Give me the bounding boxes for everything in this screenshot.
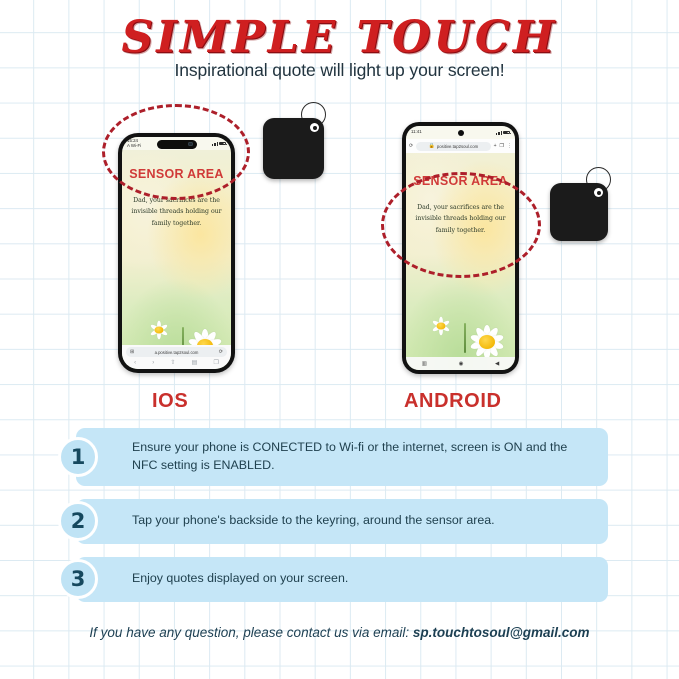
screen-content-ios: SENSOR AREA Dad, your sacrifices are the… xyxy=(122,167,231,229)
step-number-1: 1 xyxy=(58,437,98,477)
phone-mockup-ios: 15:24 A Wi-Fi SENSOR AREA Dad, your sacr… xyxy=(118,133,235,373)
daisy-photo-ios xyxy=(122,275,231,353)
browser-bar-android: ⟳ 🔒 positive.tap2soul.com + ❐ ⋮ xyxy=(406,139,515,153)
footer-text: If you have any question, please contact… xyxy=(89,625,412,640)
reload-icon[interactable]: ⟳ xyxy=(409,144,413,149)
step-text-1: Ensure your phone is CONECTED to Wi-fi o… xyxy=(132,439,592,475)
phone-screen-android: 11:41 ⟳ 🔒 positive.tap2soul.com + ❐ ⋮ SE… xyxy=(406,126,515,370)
tag-body xyxy=(550,183,608,241)
status-time-android: 11:41 xyxy=(411,130,422,135)
back-icon[interactable]: ‹ xyxy=(134,360,136,366)
tag-body xyxy=(263,118,324,179)
step-number-3: 3 xyxy=(58,559,98,599)
share-icon[interactable]: ⇧ xyxy=(170,359,175,366)
step-item-1: 1 Ensure your phone is CONECTED to Wi-fi… xyxy=(76,428,608,486)
signal-icon xyxy=(212,142,217,146)
nfc-keyring-tag-ios xyxy=(263,118,324,179)
menu-icon[interactable]: ⋮ xyxy=(507,144,512,149)
os-label-android: ANDROID xyxy=(404,390,502,413)
step-text-3: Enjoy quotes displayed on your screen. xyxy=(132,570,348,588)
tabs-icon[interactable]: ❐ xyxy=(500,144,504,149)
nfc-keyring-tag-android xyxy=(550,183,608,241)
battery-icon xyxy=(219,142,226,146)
page-title: SIMPLE TOUCH xyxy=(0,12,679,63)
step-number-2: 2 xyxy=(58,501,98,541)
os-label-ios: IOS xyxy=(152,390,188,413)
navigation-bar-android: ▥ ◉ ◀ xyxy=(406,357,515,370)
sensor-area-label-ios: SENSOR AREA xyxy=(122,167,231,181)
footer-contact: If you have any question, please contact… xyxy=(0,625,679,640)
status-bar-right-android xyxy=(496,131,510,135)
status-bar-right-ios xyxy=(212,142,226,146)
tag-hole-icon xyxy=(594,188,603,197)
poster-page: SIMPLE TOUCH Inspirational quote will li… xyxy=(0,0,679,679)
dynamic-island-ios xyxy=(157,140,197,149)
footer-email[interactable]: sp.touchtosoul@gmail.com xyxy=(413,625,590,640)
step-item-3: 3 Enjoy quotes displayed on your screen. xyxy=(76,557,608,602)
signal-icon xyxy=(496,131,501,135)
url-bar-android[interactable]: 🔒 positive.tap2soul.com xyxy=(416,142,490,151)
reload-icon[interactable]: ⟳ xyxy=(219,350,223,355)
browser-bar-ios: ⊞ a.positive.tap2soul.com ⟳ ‹ › ⇧ ▤ ❐ xyxy=(122,345,231,369)
browser-toolbar-ios: ‹ › ⇧ ▤ ❐ xyxy=(126,357,227,368)
page-subtitle: Inspirational quote will light up your s… xyxy=(0,60,679,81)
daisy-photo-android xyxy=(406,269,515,357)
status-bar-left-ios: 15:24 A Wi-Fi xyxy=(127,139,141,148)
phone-screen-ios: 15:24 A Wi-Fi SENSOR AREA Dad, your sacr… xyxy=(122,137,231,369)
url-text-ios: a.positive.tap2soul.com xyxy=(155,350,199,355)
new-tab-icon[interactable]: + xyxy=(494,144,497,149)
front-camera-icon xyxy=(458,130,464,136)
sensor-area-label-android: SENSOR AREA xyxy=(406,174,515,188)
status-carrier-ios: A Wi-Fi xyxy=(127,144,141,149)
home-icon[interactable]: ◉ xyxy=(459,361,464,367)
screen-content-android: SENSOR AREA Dad, your sacrifices are the… xyxy=(406,174,515,236)
lock-icon: 🔒 xyxy=(429,144,435,149)
quote-text-ios: Dad, your sacrifices are the invisible t… xyxy=(122,195,231,229)
page-settings-icon[interactable]: ⊞ xyxy=(130,350,134,355)
step-text-2: Tap your phone's backside to the keyring… xyxy=(132,512,495,530)
url-bar-ios[interactable]: ⊞ a.positive.tap2soul.com ⟳ xyxy=(126,347,227,357)
tabs-icon[interactable]: ❐ xyxy=(213,359,218,366)
quote-text-android: Dad, your sacrifices are the invisible t… xyxy=(406,202,515,236)
step-item-2: 2 Tap your phone's backside to the keyri… xyxy=(76,499,608,544)
phone-mockup-android: 11:41 ⟳ 🔒 positive.tap2soul.com + ❐ ⋮ SE… xyxy=(402,122,519,374)
forward-icon[interactable]: › xyxy=(152,360,154,366)
battery-icon xyxy=(503,131,510,135)
recents-icon[interactable]: ▥ xyxy=(422,361,427,367)
tag-hole-icon xyxy=(310,123,319,132)
instruction-steps: 1 Ensure your phone is CONECTED to Wi-fi… xyxy=(76,428,608,615)
url-text-android: positive.tap2soul.com xyxy=(437,144,478,149)
back-icon[interactable]: ◀ xyxy=(495,361,499,367)
bookmarks-icon[interactable]: ▤ xyxy=(192,359,198,366)
